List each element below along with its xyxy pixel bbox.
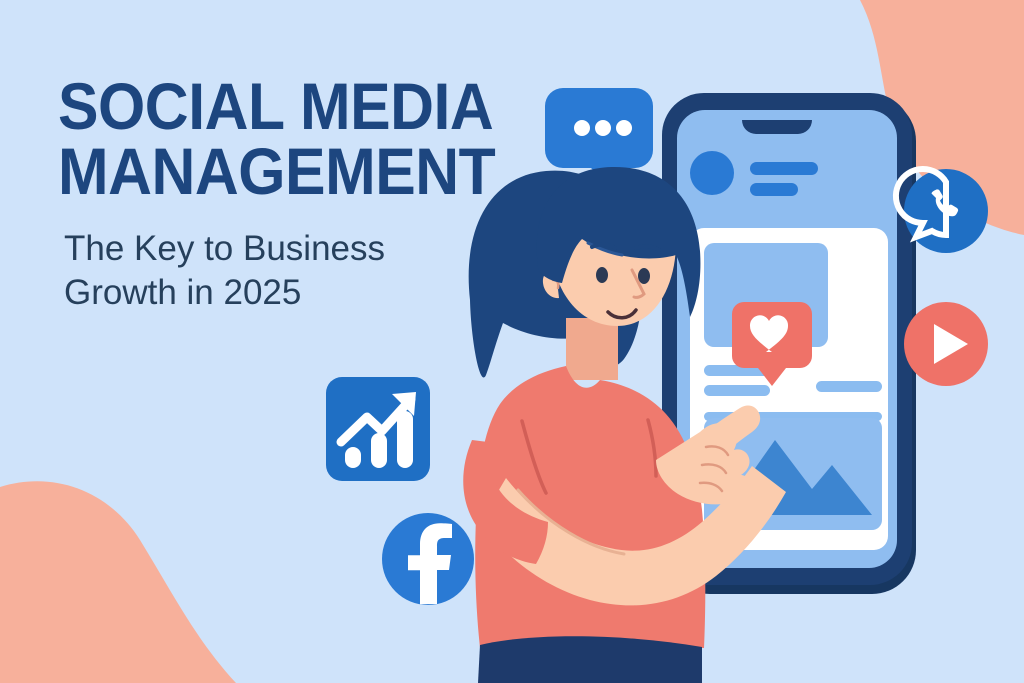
neck bbox=[566, 318, 618, 380]
author-meta-line bbox=[750, 183, 798, 196]
caption-line-2 bbox=[704, 385, 770, 396]
chat-dot-1 bbox=[574, 120, 590, 136]
author-name-line bbox=[750, 162, 818, 175]
headline-line-1: Social Media bbox=[58, 69, 493, 143]
eye-left bbox=[596, 267, 608, 283]
social-media-poster: Social Media Management The Key to Busin… bbox=[0, 0, 1024, 683]
growth-bar-2 bbox=[371, 433, 387, 468]
growth-bar-1 bbox=[345, 447, 361, 468]
growth-chart-icon[interactable] bbox=[326, 377, 430, 481]
page-title: Social Media Management bbox=[58, 74, 490, 205]
growth-bar-3 bbox=[397, 411, 413, 468]
poster-text-block: Social Media Management The Key to Busin… bbox=[58, 74, 528, 316]
pants bbox=[478, 636, 702, 683]
page-subtitle: The Key to Business Growth in 2025 bbox=[64, 227, 464, 317]
eye-right bbox=[638, 268, 650, 284]
caption-line-3 bbox=[816, 381, 882, 392]
headline-line-2: Management bbox=[58, 139, 490, 204]
avatar bbox=[690, 151, 734, 195]
play-video-icon[interactable] bbox=[904, 302, 988, 386]
chat-dot-3 bbox=[616, 120, 632, 136]
subtitle-line-1: The Key to Business bbox=[64, 227, 464, 272]
chat-dot-2 bbox=[595, 120, 611, 136]
subtitle-line-2: Growth in 2025 bbox=[64, 271, 464, 316]
facebook-icon[interactable] bbox=[382, 513, 474, 605]
